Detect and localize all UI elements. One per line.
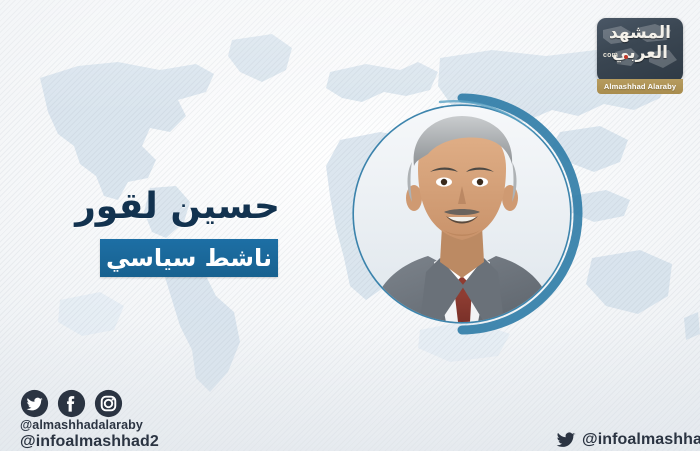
twitter-bird-icon xyxy=(556,432,576,449)
social-handles: @almashhadalaraby @infoalmashhad2 xyxy=(20,419,159,451)
logo-red-dot xyxy=(624,55,628,59)
social-media-card: المشهد العربي com Almashhad Alaraby xyxy=(0,0,700,459)
corner-handle-text: @infoalmashhad2 xyxy=(582,431,700,449)
twitter-icon[interactable] xyxy=(20,389,49,418)
role-badge: ناشط سياسي xyxy=(100,239,278,277)
logo-caption: Almashhad Alaraby xyxy=(597,79,683,94)
role-badge-label: ناشط سياسي xyxy=(106,246,272,270)
person-name: حسين لقور xyxy=(75,186,280,227)
bottom-white-strip xyxy=(0,451,700,459)
logo-text-line1: المشهد xyxy=(597,25,683,42)
facebook-icon[interactable] xyxy=(57,389,86,418)
corner-twitter-handle: @infoalmashhad2 xyxy=(556,431,700,449)
portrait-frame xyxy=(336,88,588,340)
social-icon-row xyxy=(20,389,123,418)
handle-secondary: @infoalmashhad2 xyxy=(20,434,159,451)
portrait-photo xyxy=(354,106,570,322)
handle-primary: @almashhadalaraby xyxy=(20,419,159,432)
brand-logo[interactable]: المشهد العربي com xyxy=(597,18,683,82)
instagram-icon[interactable] xyxy=(94,389,123,418)
logo-com-text: com xyxy=(603,52,618,59)
